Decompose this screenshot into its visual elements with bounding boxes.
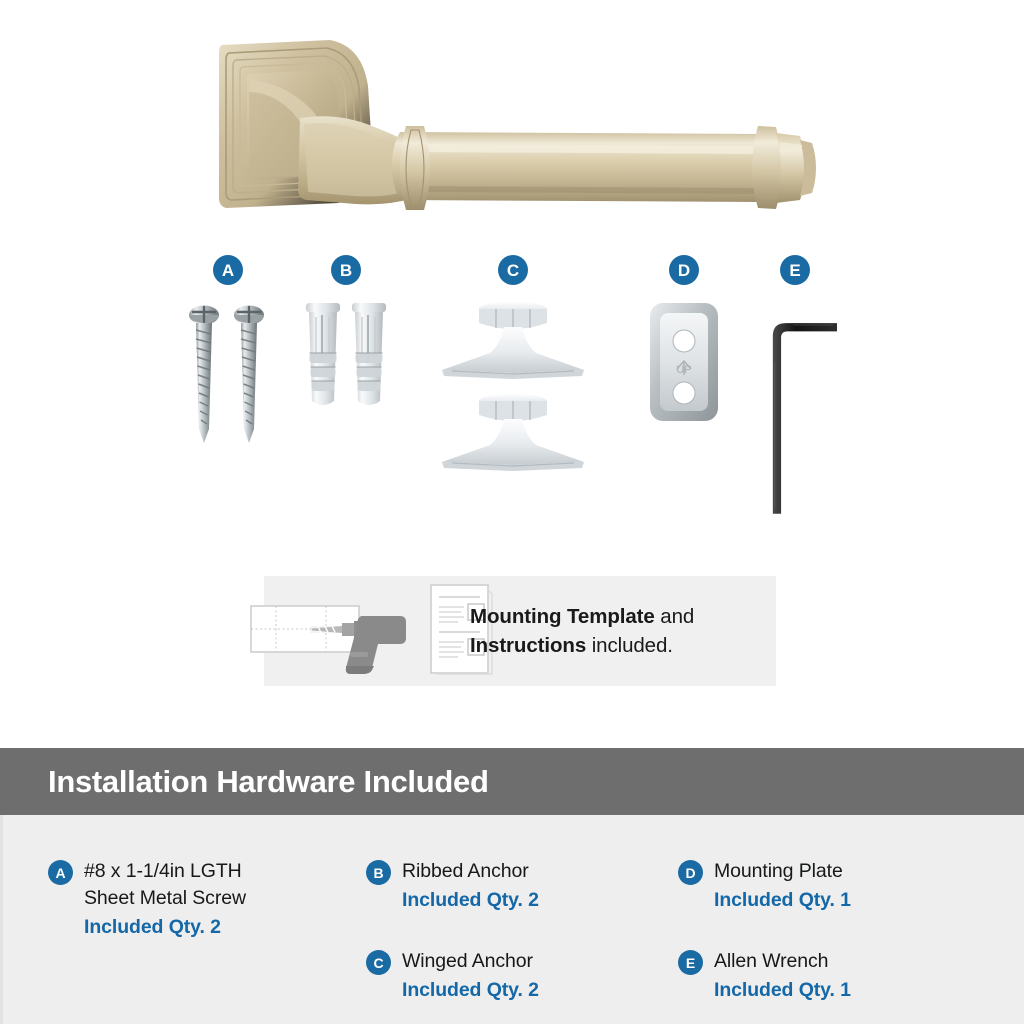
product-bar <box>392 132 782 202</box>
legend-badge-a: A <box>48 860 73 885</box>
legend-badge-b: B <box>366 860 391 885</box>
ribbed-anchor-icon <box>298 297 394 422</box>
page-title: Installation Hardware Included <box>48 764 489 800</box>
hardware-item-c: C <box>418 255 608 477</box>
legend-qty-a: Included Qty. 2 <box>84 914 246 941</box>
legend-badge-d: D <box>678 860 703 885</box>
legend-name-b: Ribbed Anchor <box>402 858 539 885</box>
legend-text-b: Ribbed Anchor Included Qty. 2 <box>402 858 539 914</box>
legend-qty-b: Included Qty. 2 <box>402 887 539 914</box>
product-left-ring <box>400 126 430 210</box>
allen-wrench-icon <box>752 297 848 527</box>
legend-entry-d: D Mounting Plate Included Qty. 1 <box>678 858 851 914</box>
mounting-plate-icon: UP <box>636 297 732 437</box>
plate-up-marking: UP <box>676 361 691 376</box>
product-hero-image <box>0 0 1024 250</box>
instructions-label: Instructions <box>470 634 586 657</box>
hardware-item-d: D <box>636 255 732 437</box>
legend-name-a-line1: #8 x 1-1/4in LGTH <box>84 858 246 885</box>
legend-text-e: Allen Wrench Included Qty. 1 <box>714 948 851 1004</box>
screw-icon <box>180 297 276 462</box>
hardware-item-b: B <box>298 255 394 422</box>
legend-qty-e: Included Qty. 1 <box>714 977 851 1004</box>
hardware-badge-c: C <box>498 255 528 285</box>
hardware-components-row: A <box>0 255 1024 555</box>
legend-entry-e: E Allen Wrench Included Qty. 1 <box>678 948 851 1004</box>
drill-template-icon <box>250 590 446 679</box>
winged-anchor-top <box>442 302 584 379</box>
hardware-badge-d: D <box>669 255 699 285</box>
installation-hardware-section: Installation Hardware Included A #8 x 1-… <box>0 748 1024 1024</box>
mounting-template-text: Mounting Template and Instructions inclu… <box>470 602 694 660</box>
hardware-badge-b: B <box>331 255 361 285</box>
instructions-included: included. <box>586 634 673 657</box>
legend-panel: A #8 x 1-1/4in LGTH Sheet Metal Screw In… <box>0 815 1024 1024</box>
legend-entry-a: A #8 x 1-1/4in LGTH Sheet Metal Screw In… <box>48 858 246 941</box>
legend-entry-c: C Winged Anchor Included Qty. 2 <box>366 948 539 1004</box>
hardware-item-e: E <box>752 255 848 527</box>
legend-qty-d: Included Qty. 1 <box>714 887 851 914</box>
legend-badge-c: C <box>366 950 391 975</box>
legend-name-e: Allen Wrench <box>714 948 851 975</box>
legend-name-d: Mounting Plate <box>714 858 851 885</box>
legend-badge-e: E <box>678 950 703 975</box>
hardware-item-a: A <box>180 255 276 462</box>
mounting-template-panel: Mounting Template and Instructions inclu… <box>264 576 776 686</box>
legend-text-a: #8 x 1-1/4in LGTH Sheet Metal Screw Incl… <box>84 858 246 941</box>
svg-text:UP: UP <box>676 364 691 376</box>
winged-anchor-bottom <box>442 394 584 471</box>
legend-qty-c: Included Qty. 2 <box>402 977 539 1004</box>
legend-text-c: Winged Anchor Included Qty. 2 <box>402 948 539 1004</box>
legend-entry-b: B Ribbed Anchor Included Qty. 2 <box>366 858 539 914</box>
product-hardware-infographic: A <box>0 0 1024 1024</box>
product-end-cap <box>752 126 816 209</box>
mounting-template-and: and <box>655 605 695 628</box>
legend-name-c: Winged Anchor <box>402 948 539 975</box>
hardware-badge-a: A <box>213 255 243 285</box>
section-header-bar: Installation Hardware Included <box>0 748 1024 815</box>
hardware-badge-e: E <box>780 255 810 285</box>
legend-name-a-line2: Sheet Metal Screw <box>84 885 246 912</box>
mounting-template-label: Mounting Template <box>470 605 655 628</box>
winged-anchor-icon <box>418 297 608 477</box>
legend-text-d: Mounting Plate Included Qty. 1 <box>714 858 851 914</box>
